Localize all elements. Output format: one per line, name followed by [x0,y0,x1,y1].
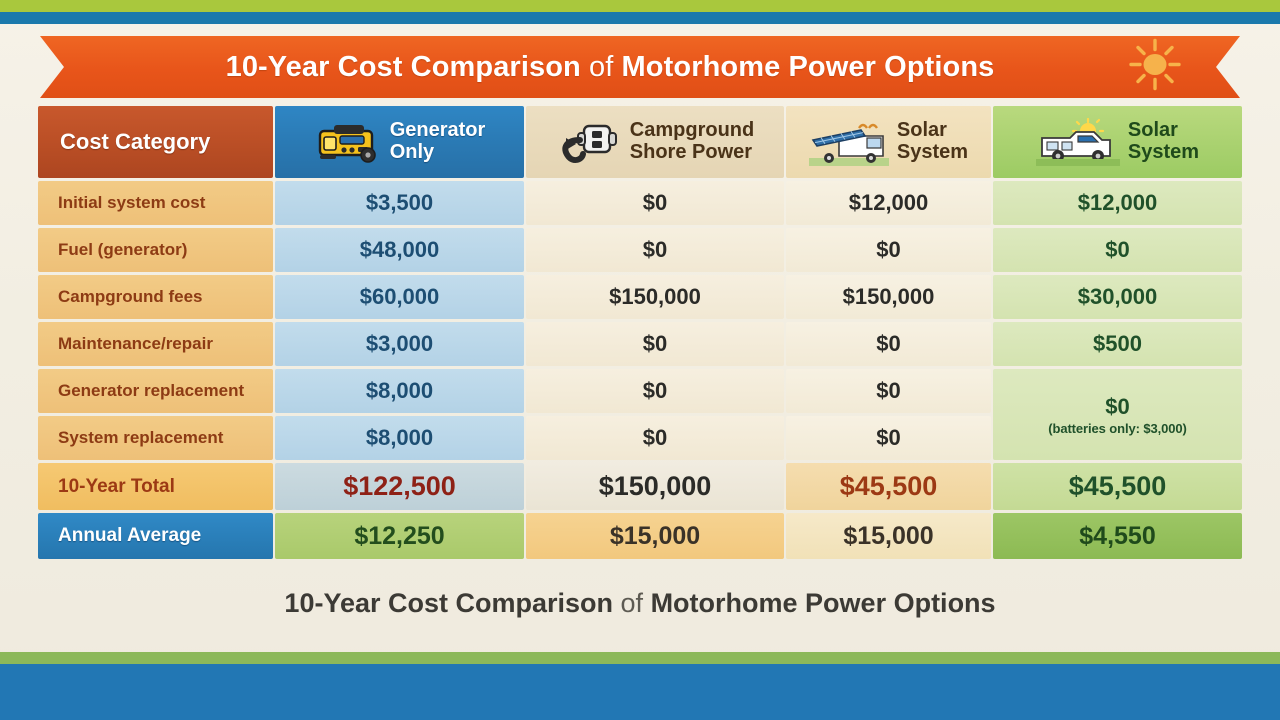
row-label: Maintenance/repair [38,322,273,366]
cell-generator: $12,250 [275,513,524,559]
cell-shore-power: $0 [526,369,784,413]
column-header-label: Generator Only [390,120,486,163]
title-part-2: Motorhome Power Options [622,51,995,83]
cell-generator: $48,000 [275,228,524,272]
cell-value: $500 [1093,331,1142,357]
table-header-row: Cost Category [38,106,1242,178]
cell-value: $0 [1105,237,1129,263]
title-ribbon: 10-Year Cost Comparison of Motorhome Pow… [40,36,1240,98]
cell-generator: $8,000 [275,369,524,413]
column-header-label: Cost Category [60,129,210,155]
cell-value: $150,000 [609,284,701,310]
table-total-row: 10-Year Total $122,500 $150,000 $45,500 … [38,463,1242,510]
cell-shore-power: $150,000 [526,275,784,319]
cell-shore-power: $150,000 [526,463,784,510]
top-blue-stripe [0,12,1280,24]
top-green-stripe [0,0,1280,12]
cell-solar: $45,500 [993,463,1242,510]
cell-value: $0 [876,331,900,357]
cell-generator: $3,000 [275,322,524,366]
column-header-label: Solar System [897,120,968,163]
bottom-green-stripe [0,652,1280,664]
cell-value: $0 [643,378,667,404]
cell-value: $0 [643,331,667,357]
cell-generator: $122,500 [275,463,524,510]
cell-generator: $8,000 [275,416,524,460]
power-plug-icon [556,118,622,166]
cell-value: $8,000 [366,378,433,404]
cell-value: $15,000 [610,522,700,551]
rv-sun-icon [1036,118,1120,166]
cell-value: $60,000 [360,284,440,310]
bottom-blue-band [0,664,1280,720]
cell-value: $12,000 [1078,190,1158,216]
cell-value: $0 [643,190,667,216]
cell-shore-power: $0 [526,322,784,366]
cell-solar-replacement-merged: $0 (batteries only: $3,000) [993,369,1242,460]
cell-value: $0 [1105,394,1129,420]
cell-value: $3,500 [366,190,433,216]
cell-shore-power: $0 [526,228,784,272]
caption-part-1: 10-Year Cost Comparison [284,588,613,618]
table-average-row: Annual Average $12,250 $15,000 $15,000 $… [38,513,1242,559]
cell-solar-hybrid: $150,000 [786,275,991,319]
cell-solar: $0 [993,228,1242,272]
solar-rv-icon [809,118,889,166]
cell-solar: $12,000 [993,181,1242,225]
cell-solar-hybrid: $15,000 [786,513,991,559]
column-header-solar-system-hybrid: Solar System [786,106,991,178]
cell-value: $122,500 [343,471,456,502]
column-header-campground-shore-power: Campground Shore Power [526,106,784,178]
cell-shore-power: $0 [526,181,784,225]
cell-shore-power: $0 [526,416,784,460]
row-label: Generator replacement [38,369,273,413]
cell-value: $0 [643,425,667,451]
cell-shore-power: $15,000 [526,513,784,559]
cell-solar: $4,550 [993,513,1242,559]
cell-value: $45,500 [840,471,938,502]
cost-comparison-table: Cost Category [38,106,1242,562]
cell-value: $4,550 [1079,522,1155,551]
title-part-of: of [581,51,622,83]
cell-generator: $60,000 [275,275,524,319]
column-header-label: Campground Shore Power [630,120,754,163]
table-row: Initial system cost $3,500 $0 $12,000 $1… [38,181,1242,225]
cell-value: $0 [876,425,900,451]
cell-note: (batteries only: $3,000) [1048,421,1187,436]
cell-value: $48,000 [360,237,440,263]
title-part-1: 10-Year Cost Comparison [226,51,581,83]
cell-value: $12,000 [849,190,929,216]
page-title: 10-Year Cost Comparison of Motorhome Pow… [226,51,1055,84]
column-header-generator-only: Generator Only [275,106,524,178]
infographic-page: 10-Year Cost Comparison of Motorhome Pow… [0,0,1280,720]
row-label: System replacement [38,416,273,460]
row-label: Initial system cost [38,181,273,225]
cell-value: $0 [643,237,667,263]
cell-solar-hybrid: $0 [786,322,991,366]
cell-solar: $30,000 [993,275,1242,319]
cell-value: $45,500 [1069,471,1167,502]
cell-value: $0 [876,237,900,263]
table-row: Fuel (generator) $48,000 $0 $0 $0 [38,228,1242,272]
row-label: 10-Year Total [38,463,273,510]
cell-solar-hybrid: $0 [786,228,991,272]
row-label: Campground fees [38,275,273,319]
caption-part-of: of [613,588,651,618]
cell-value: $12,250 [354,522,444,551]
caption-part-2: Motorhome Power Options [651,588,996,618]
cell-value: $15,000 [843,522,933,551]
table-row: Campground fees $60,000 $150,000 $150,00… [38,275,1242,319]
cell-solar-hybrid: $0 [786,416,991,460]
cell-value: $30,000 [1078,284,1158,310]
row-label: Fuel (generator) [38,228,273,272]
cell-value: $150,000 [599,471,712,502]
cell-value: $0 [876,378,900,404]
cell-solar: $500 [993,322,1242,366]
cell-value: $3,000 [366,331,433,357]
generator-icon [314,119,382,165]
cell-solar-hybrid: $45,500 [786,463,991,510]
column-header-cost-category: Cost Category [38,106,273,178]
column-header-label: Solar System [1128,120,1199,163]
table-row: Maintenance/repair $3,000 $0 $0 $500 [38,322,1242,366]
cell-value: $150,000 [843,284,935,310]
cell-solar-hybrid: $0 [786,369,991,413]
cell-solar-hybrid: $12,000 [786,181,991,225]
bottom-caption: 10-Year Cost Comparison of Motorhome Pow… [0,588,1280,619]
cell-value: $8,000 [366,425,433,451]
sun-icon [1128,38,1182,97]
cell-generator: $3,500 [275,181,524,225]
column-header-solar-system: Solar System [993,106,1242,178]
row-label: Annual Average [38,513,273,559]
